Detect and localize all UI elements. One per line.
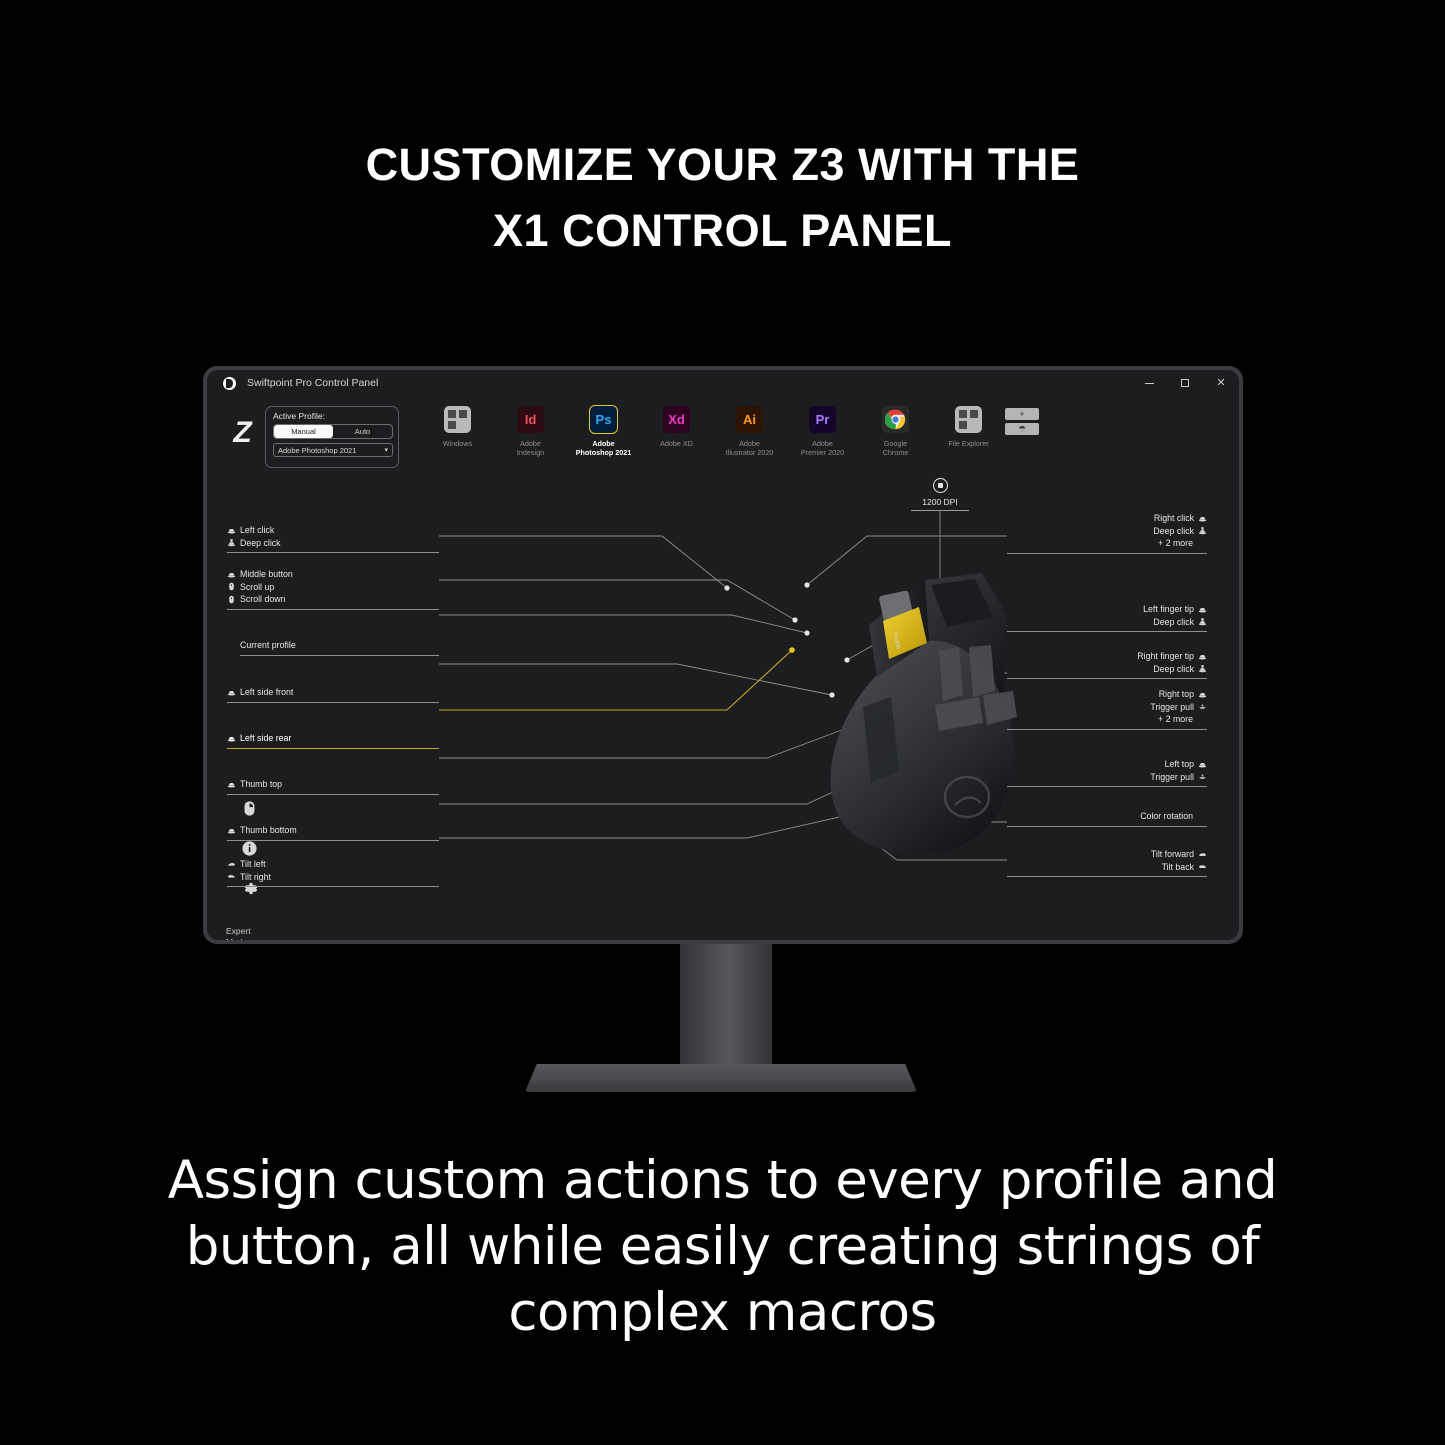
label-current-profile[interactable]: Current profile — [227, 639, 439, 656]
profile-select-value: Adobe Photoshop 2021 — [278, 446, 356, 455]
app-label-photoshop: AdobePhotoshop 2021 — [576, 439, 632, 457]
deep-click-icon — [227, 538, 236, 547]
app-label-file-explorer: File Explorer — [948, 439, 988, 448]
app-label-windows: Windows — [443, 439, 472, 448]
dpi-target-icon — [933, 478, 948, 493]
scroll-icon — [227, 582, 236, 591]
click-icon — [227, 826, 236, 835]
profile-actions: + ☂ — [1005, 408, 1039, 435]
close-icon[interactable]: ✕ — [1203, 371, 1239, 395]
label-left-side-front[interactable]: Left side front — [227, 686, 439, 703]
app-label-indesign: AdobeIndesign — [517, 439, 544, 457]
label-middle-button[interactable]: Middle button Scroll up Scroll down — [227, 568, 439, 610]
click-icon — [1198, 652, 1207, 661]
scroll-icon — [227, 595, 236, 604]
monitor-bezel: Swiftpoint Pro Control Panel ✕ Z Active … — [203, 366, 1243, 944]
dpi-value: 1200 DPI — [922, 497, 957, 507]
mouse-mapping-diagram: Profile 1200 DPI Left click Deep click M… — [207, 470, 1239, 940]
click-icon — [227, 780, 236, 789]
app-title-bar: Swiftpoint Pro Control Panel ✕ — [207, 370, 1239, 396]
label-right-finger-tip[interactable]: Right finger tip Deep click — [1007, 650, 1207, 679]
file-explorer-icon — [955, 406, 982, 433]
click-icon — [227, 688, 236, 697]
adobe-premiere-icon: Pr — [809, 406, 836, 433]
label-left-click[interactable]: Left click Deep click — [227, 524, 439, 553]
tilt-forward-icon — [1198, 850, 1207, 859]
delete-profile-icon[interactable]: ☂ — [1005, 423, 1039, 435]
label-left-side-rear[interactable]: Left side rear — [227, 732, 439, 749]
click-icon — [1198, 514, 1207, 523]
app-profile-list: Windows Id AdobeIndesign Ps AdobePhotosh… — [421, 406, 1039, 457]
window-controls: ✕ — [1131, 371, 1239, 395]
brand-logo: Z — [219, 416, 265, 450]
profile-mode-auto[interactable]: Auto — [333, 425, 392, 438]
app-item-windows[interactable]: Windows — [421, 406, 494, 448]
google-chrome-icon — [882, 406, 909, 433]
label-tilt-forward-back[interactable]: Tilt forward Tilt back — [1007, 848, 1207, 877]
deep-click-icon — [1198, 664, 1207, 673]
label-color-rotation[interactable]: Color rotation — [1007, 810, 1207, 827]
deep-click-icon — [1198, 617, 1207, 626]
maximize-icon[interactable] — [1167, 371, 1203, 395]
app-label-xd: Adobe XD — [660, 439, 693, 448]
label-thumb-top[interactable]: Thumb top — [227, 778, 439, 795]
monitor-screen: Swiftpoint Pro Control Panel ✕ Z Active … — [207, 370, 1239, 940]
click-icon — [1198, 760, 1207, 769]
click-icon — [227, 570, 236, 579]
label-thumb-bottom[interactable]: Thumb bottom — [227, 824, 439, 841]
add-profile-icon[interactable]: + — [1005, 408, 1039, 420]
active-profile-panel: Active Profile: Manual Auto Adobe Photos… — [265, 406, 399, 468]
caption-line-2: button, all while easily creating string… — [0, 1214, 1445, 1280]
deep-click-icon — [1198, 526, 1207, 535]
tilt-right-icon — [227, 872, 236, 881]
app-item-file-explorer[interactable]: File Explorer — [932, 406, 1005, 448]
app-title: Swiftpoint Pro Control Panel — [247, 377, 378, 389]
app-label-chrome: GoogleChrome — [883, 439, 909, 457]
trigger-icon — [1198, 702, 1207, 711]
click-icon — [227, 526, 236, 535]
minimize-icon[interactable] — [1131, 371, 1167, 395]
adobe-illustrator-icon: Ai — [736, 406, 763, 433]
caption-line-3: complex macros — [0, 1280, 1445, 1346]
chevron-down-icon: ▾ — [384, 446, 388, 454]
adobe-xd-icon: Xd — [663, 406, 690, 433]
app-item-photoshop[interactable]: Ps AdobePhotoshop 2021 — [567, 406, 640, 457]
app-item-premiere[interactable]: Pr AdobePremier 2020 — [786, 406, 859, 457]
label-left-finger-tip[interactable]: Left finger tip Deep click — [1007, 603, 1207, 632]
label-right-top[interactable]: Right top Trigger pull + 2 more — [1007, 688, 1207, 730]
profile-mode-manual[interactable]: Manual — [274, 425, 333, 438]
app-item-xd[interactable]: Xd Adobe XD — [640, 406, 713, 448]
app-item-chrome[interactable]: GoogleChrome — [859, 406, 932, 457]
profile-select[interactable]: Adobe Photoshop 2021 ▾ — [273, 443, 393, 457]
click-icon — [1198, 605, 1207, 614]
monitor-stand-base — [525, 1064, 917, 1092]
caption-line-1: Assign custom actions to every profile a… — [0, 1148, 1445, 1214]
profile-mode-toggle[interactable]: Manual Auto — [273, 424, 393, 439]
app-label-premiere: AdobePremier 2020 — [801, 439, 844, 457]
adobe-indesign-icon: Id — [517, 406, 544, 433]
app-item-indesign[interactable]: Id AdobeIndesign — [494, 406, 567, 457]
windows-icon — [444, 406, 471, 433]
page-caption: Assign custom actions to every profile a… — [0, 1148, 1445, 1346]
dpi-indicator[interactable]: 1200 DPI — [903, 478, 977, 511]
tilt-left-icon — [227, 860, 236, 869]
trigger-icon — [1198, 772, 1207, 781]
tilt-back-icon — [1198, 862, 1207, 871]
app-label-illustrator: AdobeIllustrator 2020 — [726, 439, 774, 457]
top-control-row: Z Active Profile: Manual Auto Adobe Phot… — [207, 400, 1239, 466]
adobe-photoshop-icon: Ps — [590, 406, 617, 433]
label-left-top[interactable]: Left top Trigger pull — [1007, 758, 1207, 787]
active-profile-label: Active Profile: — [273, 411, 392, 421]
swiftpoint-logo-icon — [223, 377, 236, 390]
label-right-click[interactable]: Right click Deep click + 2 more — [1007, 512, 1207, 554]
click-icon — [1198, 690, 1207, 699]
click-icon — [227, 734, 236, 743]
app-item-illustrator[interactable]: Ai AdobeIllustrator 2020 — [713, 406, 786, 457]
label-tilt-left-right[interactable]: Tilt left Tilt right — [227, 858, 439, 887]
